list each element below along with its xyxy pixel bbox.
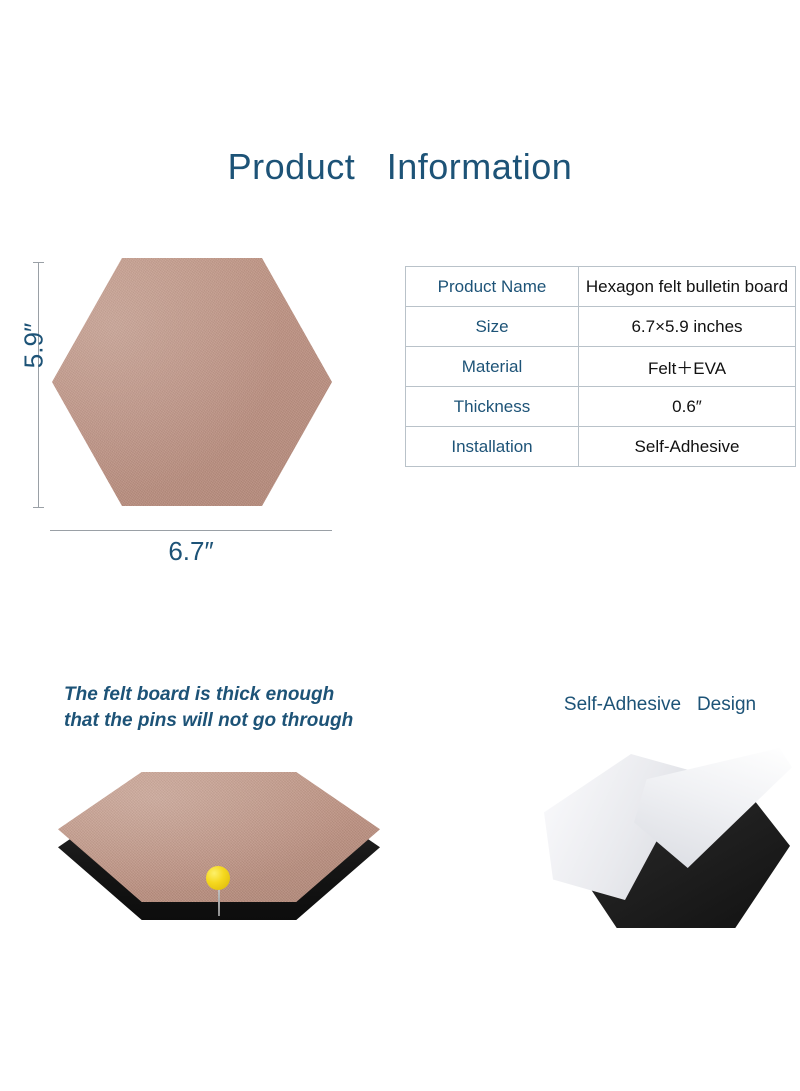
spec-key: Installation bbox=[406, 427, 579, 467]
spec-value: Felt＋EVA bbox=[579, 347, 796, 387]
feature-caption-thickness: The felt board is thick enough that the … bbox=[64, 682, 404, 734]
spec-value: 6.7×5.9 inches bbox=[579, 307, 796, 347]
self-adhesive-back-photo bbox=[538, 748, 796, 938]
spec-value: Hexagon felt bulletin board bbox=[579, 267, 796, 307]
felt-board-with-pin-photo bbox=[58, 772, 380, 937]
spec-key: Material bbox=[406, 347, 579, 387]
width-dimension-label: 6.7″ bbox=[50, 536, 332, 567]
spec-key: Size bbox=[406, 307, 579, 347]
table-row: Product Name Hexagon felt bulletin board bbox=[406, 267, 796, 307]
height-dimension-label: 5.9″ bbox=[19, 306, 50, 386]
hexagon-product-illustration bbox=[52, 258, 332, 506]
product-spec-table: Product Name Hexagon felt bulletin board… bbox=[405, 266, 796, 467]
hexagon-felt-shape bbox=[52, 258, 332, 506]
spec-value: 0.6″ bbox=[579, 387, 796, 427]
table-row: Size 6.7×5.9 inches bbox=[406, 307, 796, 347]
spec-table-body: Product Name Hexagon felt bulletin board… bbox=[406, 267, 796, 467]
table-row: Material Felt＋EVA bbox=[406, 347, 796, 387]
push-pin-head-icon bbox=[206, 866, 230, 890]
page-title: Product Information bbox=[0, 146, 800, 188]
feature-caption-self-adhesive: Self-Adhesive Design bbox=[520, 694, 800, 716]
spec-key: Thickness bbox=[406, 387, 579, 427]
spec-key: Product Name bbox=[406, 267, 579, 307]
spec-value: Self-Adhesive bbox=[579, 427, 796, 467]
table-row: Thickness 0.6″ bbox=[406, 387, 796, 427]
table-row: Installation Self-Adhesive bbox=[406, 427, 796, 467]
width-dimension-line bbox=[50, 530, 332, 531]
